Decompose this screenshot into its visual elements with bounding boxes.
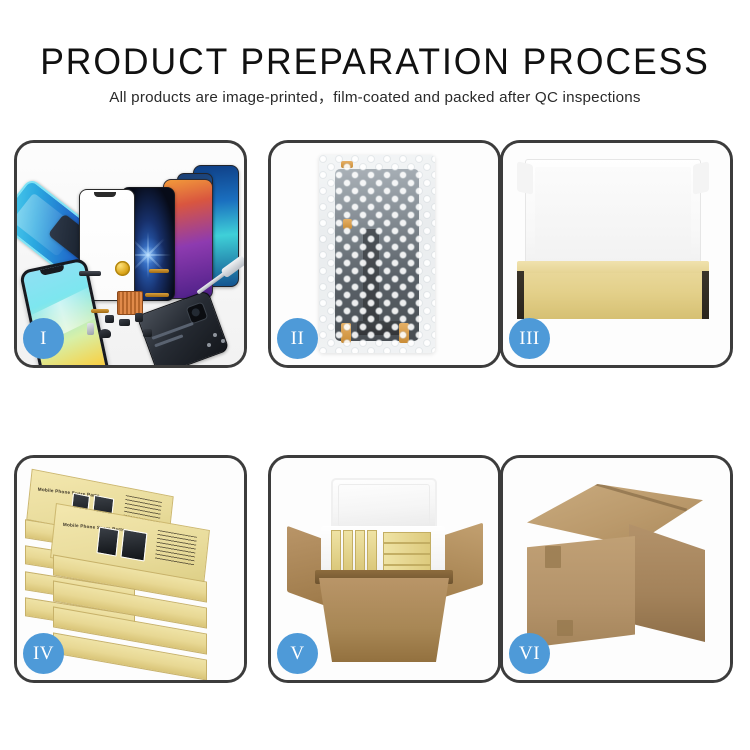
- yellow-box-item: [383, 532, 431, 543]
- screw-part-icon: [213, 333, 217, 337]
- carton-side-face: [629, 524, 705, 642]
- tray-edge-right: [702, 271, 709, 319]
- chip-part-icon: [119, 319, 130, 326]
- chip-part-icon: [105, 315, 114, 323]
- step-badge-1: I: [23, 318, 64, 359]
- bracket-part-icon: [79, 271, 101, 276]
- flex-cable-part-icon: [149, 269, 169, 273]
- process-step-grid: I II: [0, 0, 750, 750]
- yellow-box-tray-icon: [517, 271, 709, 319]
- step-badge-5: V: [277, 633, 318, 674]
- bubble-texture: [319, 155, 435, 353]
- chip-part-icon: [135, 313, 143, 322]
- process-step-panel-5: V: [268, 455, 501, 683]
- carton-body: [319, 578, 449, 662]
- box-lid-text-lines: [155, 529, 198, 566]
- screw-part-icon: [221, 339, 225, 343]
- yellow-box-item: [383, 554, 431, 565]
- button-part-icon: [99, 329, 111, 338]
- flex-cable-part-icon: [145, 293, 169, 297]
- phone-graphic: [97, 527, 120, 557]
- process-step-panel-1: I: [14, 140, 247, 368]
- carton-tape-upper: [545, 546, 561, 568]
- chip-part-icon: [143, 329, 152, 337]
- process-step-panel-4: Mobile Phone Spare Parts Mobile Phone Sp…: [14, 455, 247, 683]
- process-step-panel-6: VI: [500, 455, 733, 683]
- step-badge-3: III: [509, 318, 550, 359]
- flex-cable-part-icon: [91, 309, 109, 313]
- carton-top-face: [527, 484, 703, 546]
- sealed-carton-icon: [517, 484, 713, 652]
- carton-tape-lower: [557, 620, 573, 636]
- step-badge-6: VI: [509, 633, 550, 674]
- yellow-box-item: [383, 543, 431, 554]
- open-carton-icon: [293, 474, 475, 664]
- circuit-board-part-icon: [117, 291, 143, 315]
- step-badge-2: II: [277, 318, 318, 359]
- process-step-panel-2: II: [268, 140, 501, 368]
- carton-front-face: [527, 536, 635, 648]
- speaker-part-icon: [115, 261, 130, 276]
- bubble-wrap-bag-icon: [319, 155, 435, 353]
- lid-tab-left: [517, 161, 533, 194]
- screw-part-icon: [207, 343, 211, 347]
- box-lid-label: Mobile Phone Spare Parts: [38, 487, 100, 499]
- process-step-panel-3: III: [500, 140, 733, 368]
- tray-edge-left: [517, 271, 524, 319]
- step-badge-4: IV: [23, 633, 64, 674]
- lid-tab-right: [693, 161, 709, 194]
- camera-module-icon: [185, 301, 208, 324]
- product-preparation-infographic: PRODUCT PREPARATION PROCESS All products…: [0, 0, 750, 750]
- phone-graphic: [121, 529, 147, 562]
- sim-tray-part-icon: [87, 323, 94, 335]
